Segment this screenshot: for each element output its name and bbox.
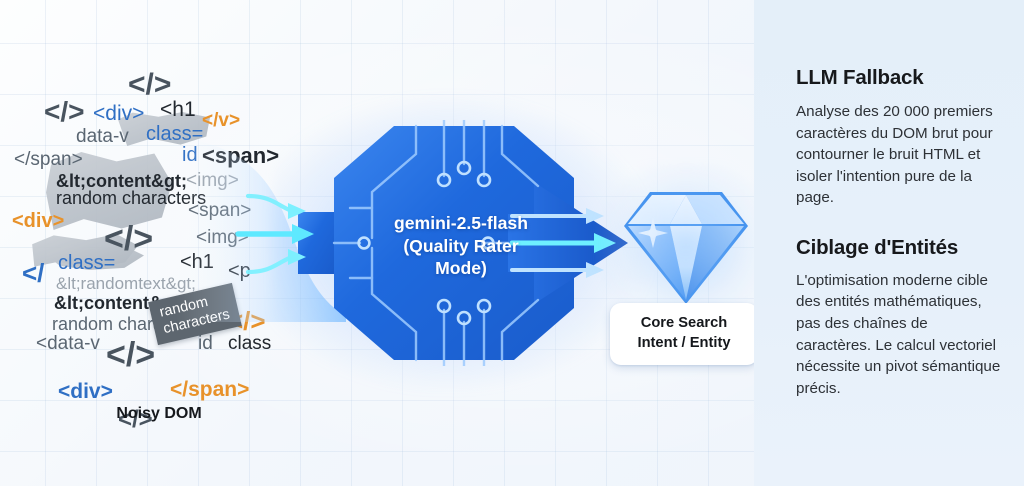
dom-token: <data-v <box>36 333 100 355</box>
processor-label-line2: (Quality Rater <box>403 236 518 256</box>
dom-token: <span> <box>188 200 251 222</box>
processor-label-line1: gemini-2.5-flash <box>394 213 528 233</box>
dom-token: data-v <box>76 126 129 148</box>
core-search-line2: Intent / Entity <box>616 334 752 354</box>
dom-token: </> <box>44 96 84 128</box>
dom-token: class= <box>146 123 203 146</box>
dom-token: <div> <box>93 102 144 126</box>
dom-token: <p <box>228 260 251 283</box>
entity-gem <box>620 186 752 308</box>
dom-token: <div> <box>58 380 113 404</box>
dom-token: class <box>228 333 271 355</box>
noisy-dom-cluster: </></><div><h1</v>data-vclass=</span>id<… <box>0 48 300 408</box>
core-search-pill[interactable]: Core Search Intent / Entity <box>610 303 758 365</box>
dom-token: </ <box>22 258 44 289</box>
panel-block-llm-fallback: LLM Fallback Analyse des 20 000 premiers… <box>796 66 1002 399</box>
dom-token: <h1 <box>160 98 196 122</box>
dom-token: &lt;randomtext&gt; <box>56 274 196 294</box>
dom-token: </> <box>106 336 155 375</box>
core-search-line1: Core Search <box>616 314 752 334</box>
panel-heading: LLM Fallback <box>796 66 1002 90</box>
panel-heading: Ciblage d'Entités <box>796 236 1002 260</box>
dom-token: id <box>182 144 198 167</box>
dom-token: <img> <box>196 227 249 249</box>
panel-body: Analyse des 20 000 premiers caractères d… <box>796 101 1002 209</box>
dom-token: id <box>198 333 213 355</box>
infographic-canvas: </></><div><h1</v>data-vclass=</span>id<… <box>0 0 1024 486</box>
processor-label-line3: Mode) <box>435 258 487 278</box>
dom-token: <span> <box>202 143 279 169</box>
noisy-dom-caption: Noisy DOM <box>84 405 234 423</box>
panel-body: L'optimisation moderne cible des entités… <box>796 270 1002 399</box>
dom-token: </span> <box>170 378 249 402</box>
dom-token: <h1 <box>180 251 214 274</box>
dom-token: </v> <box>202 110 240 132</box>
dom-token: class= <box>58 252 115 275</box>
dom-token: </> <box>128 68 171 102</box>
explanation-panel: LLM Fallback Analyse des 20 000 premiers… <box>754 0 1024 486</box>
processor-label: gemini-2.5-flash (Quality Rater Mode) <box>350 212 572 280</box>
processor-node: gemini-2.5-flash (Quality Rater Mode) <box>298 120 628 366</box>
dom-token: </span> <box>14 149 83 171</box>
dom-token: random characters <box>56 188 206 209</box>
dom-token: <div> <box>12 210 64 233</box>
panel-block-ciblage-entites: Ciblage d'Entités L'optimisation moderne… <box>796 236 1002 399</box>
